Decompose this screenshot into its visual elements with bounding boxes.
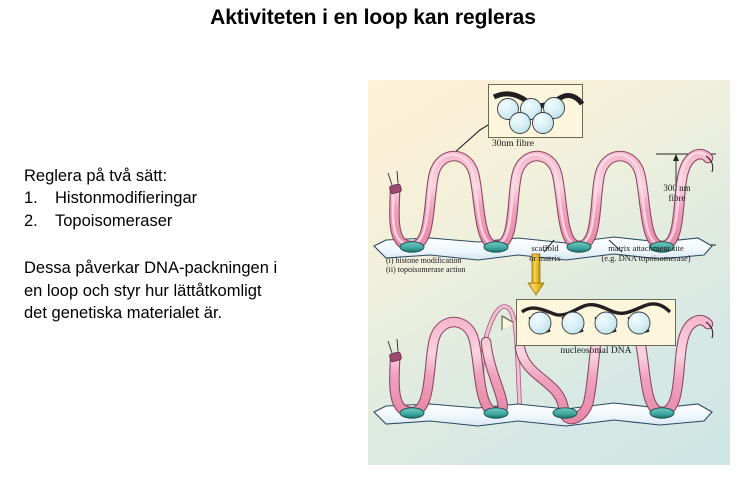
body-paragraph-line: Dessa påverkar DNA-packningen i (24, 257, 344, 279)
label-action-line2: (ii) topoisomerase action (386, 266, 506, 275)
fibre-frayed-end-left-bottom (388, 339, 402, 362)
label-matrix-attachment-site: matrix attachment site (e.g. DNA topoiso… (582, 244, 710, 263)
label-300nm-fibre: 300 nm fibre (649, 183, 705, 203)
label-scaffold-line2: or matrix (518, 254, 572, 264)
fibre-frayed-end-left-top (388, 171, 402, 194)
label-regulation-actions: (i) histone modification (ii) topoisomer… (386, 257, 506, 275)
list-item-label: Histonmodifieringar (55, 187, 197, 209)
inset-frame-nucleosomal-dna (516, 299, 676, 346)
regulation-list: 1. Histonmodifieringar 2. Topoisomeraser (24, 187, 344, 232)
page-title: Aktiviteten i en loop kan regleras (0, 6, 746, 30)
label-300nm-fibre-line1: 300 nm (649, 183, 705, 193)
slide-canvas: Aktiviteten i en loop kan regleras Regle… (0, 0, 746, 482)
label-scaffold-or-matrix: scaffold or matrix (518, 244, 572, 263)
label-mas-line2: (e.g. DNA topoisomerase) (582, 254, 710, 264)
label-30nm-fibre: 30nm fibre (478, 139, 548, 150)
list-item: 1. Histonmodifieringar (24, 187, 344, 209)
list-item: 2. Topoisomeraser (24, 210, 344, 232)
label-nucleosomal-dna: nucleosomal DNA (550, 346, 642, 357)
label-300nm-fibre-line2: fibre (649, 193, 705, 203)
body-text-block: Reglera på två sätt: 1. Histonmodifierin… (24, 165, 344, 325)
inset-frame-30nm-fibre (488, 84, 583, 138)
body-paragraph-line: en loop och styr hur lättåtkomligt (24, 280, 344, 302)
chromatin-loop-regulation-figure: 30nm fibre 300 nm fibre scaffold or matr… (368, 80, 730, 465)
list-item-label: Topoisomeraser (55, 210, 172, 232)
list-item-number: 2. (24, 210, 55, 232)
body-paragraph: Dessa påverkar DNA-packningen i en loop … (24, 257, 344, 324)
body-lead-line: Reglera på två sätt: (24, 165, 344, 187)
list-item-number: 1. (24, 187, 55, 209)
body-paragraph-line: det genetiska materialet är. (24, 302, 344, 324)
